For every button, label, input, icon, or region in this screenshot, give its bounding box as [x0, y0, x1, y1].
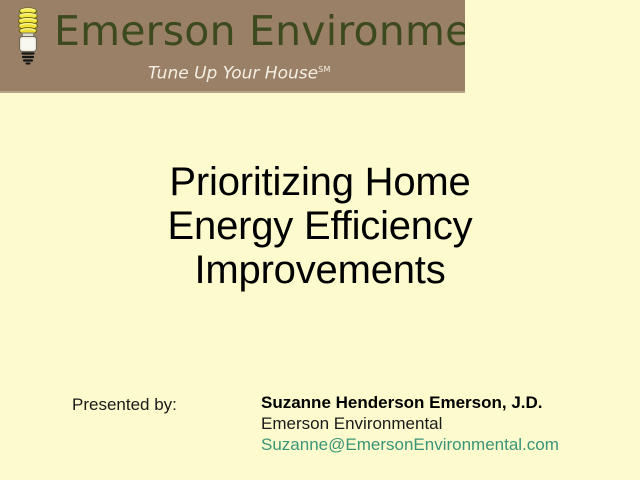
slide-title-line-3: Improvements — [0, 248, 640, 292]
slide-title-line-1: Prioritizing Home — [0, 160, 640, 204]
slide-title-line-2: Energy Efficiency — [0, 204, 640, 248]
slide-title: Prioritizing Home Energy Efficiency Impr… — [0, 160, 640, 292]
presenter-organization: Emerson Environmental — [261, 413, 601, 434]
presenter-block: Presented by: Suzanne Henderson Emerson,… — [0, 392, 640, 462]
header-banner: Emerson Environmental Tune Up Your House… — [0, 0, 465, 93]
presenter-email-link[interactable]: Suzanne@EmersonEnvironmental.com — [261, 434, 601, 455]
presented-by-label: Presented by: — [72, 394, 177, 415]
service-mark-icon: SM — [318, 65, 331, 74]
presenter-details: Suzanne Henderson Emerson, J.D. Emerson … — [261, 392, 601, 455]
presentation-slide: Emerson Environmental Tune Up Your House… — [0, 0, 640, 480]
brand-tagline-text: Tune Up Your House — [148, 64, 318, 84]
presenter-name: Suzanne Henderson Emerson, J.D. — [261, 392, 601, 413]
brand-name: Emerson Environmental — [54, 9, 465, 53]
brand-tagline: Tune Up Your HouseSM — [148, 60, 331, 84]
cfl-bulb-icon — [10, 4, 46, 66]
